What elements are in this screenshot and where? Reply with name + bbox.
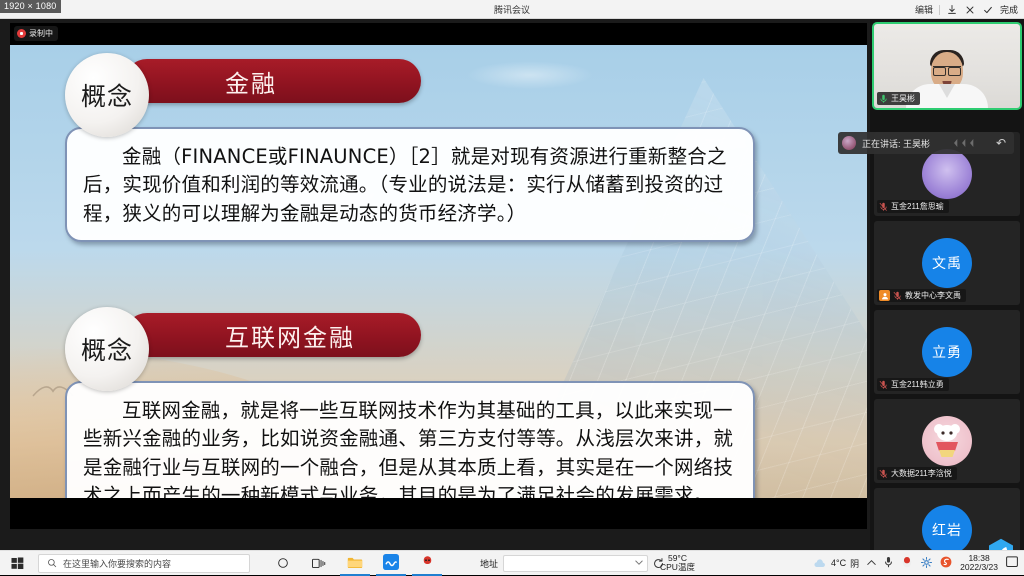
microphone-tray-icon[interactable] (884, 556, 893, 570)
cortana-icon[interactable] (268, 551, 298, 576)
microphone-muted-icon (879, 380, 888, 390)
microphone-muted-icon (879, 202, 888, 212)
done-button[interactable]: 完成 (1000, 3, 1018, 16)
presentation-slide: 金融 概念 金融（FINANCE或FINAUNCE）［2］就是对现有资源进行重新… (10, 45, 867, 498)
windows-logo-icon (11, 557, 24, 570)
concept-body-1: 金融（FINANCE或FINAUNCE）［2］就是对现有资源进行重新整合之后，实… (65, 127, 755, 242)
weather-desc: 阴 (850, 557, 859, 570)
participant-name: 互金211詹思瑜 (891, 201, 944, 212)
action-center-icon[interactable] (1006, 556, 1018, 570)
taskbar-apps (268, 551, 442, 576)
participant-name: 王昊彬 (891, 93, 915, 104)
back-arrow-icon[interactable]: ↶ (996, 136, 1006, 150)
divider (939, 5, 940, 15)
weather-widget[interactable]: 4°C 阴 (813, 557, 859, 570)
participant-name: 大数据211李浛悦 (891, 468, 952, 479)
chevron-down-icon[interactable] (635, 560, 643, 566)
participant-tile[interactable]: 王昊彬 (874, 24, 1020, 108)
recording-label: 录制中 (29, 28, 53, 39)
participant-name-tag: 王昊彬 (877, 92, 920, 105)
window-title: 腾讯会议 (0, 3, 1024, 16)
speaking-toast: 正在讲话: 王昊彬 ↶ (838, 132, 1014, 154)
capture-actions: 编辑 完成 (915, 0, 1018, 19)
capture-dimensions-badge: 1920 × 1080 (0, 0, 61, 13)
taskbar-clock[interactable]: 18:38 2022/3/23 (960, 554, 998, 573)
participant-tile[interactable]: 大数据211李浛悦 (874, 399, 1020, 483)
address-input[interactable] (503, 555, 648, 572)
participant-tile[interactable]: 文禹 教发中心李文禹 (874, 221, 1020, 305)
sogou-input-icon[interactable] (940, 556, 952, 570)
recording-indicator: 录制中 (14, 26, 58, 41)
taskbar-search-placeholder: 在这里输入你要搜索的内容 (63, 557, 171, 570)
avatar: 立勇 (922, 327, 972, 377)
address-toolbar: 地址 (480, 555, 664, 572)
participant-rail[interactable]: 王昊彬 互金211詹思瑜 文禹 教发中心李文禹 立勇 (870, 19, 1024, 550)
concept-title-2: 互联网金融 (125, 313, 421, 357)
participant-name-tag: 互金211詹思瑜 (877, 200, 949, 213)
start-button[interactable] (0, 551, 34, 576)
cpu-temp-label: CPU温度 (660, 563, 695, 572)
address-label: 地址 (480, 557, 498, 570)
show-hidden-icons-chevron[interactable] (867, 558, 876, 568)
system-tray: 4°C 阴 18:38 2022/3/23 (813, 554, 1018, 573)
concept-badge-2: 概念 (65, 307, 149, 391)
participant-name-tag: 互金211韩立勇 (877, 378, 949, 391)
cpu-temperature-widget: 59°C CPU温度 (660, 554, 695, 573)
participant-name: 互金211韩立勇 (891, 379, 944, 390)
collapse-dots-icon (954, 139, 976, 147)
cloud-icon (813, 558, 827, 569)
download-icon[interactable] (946, 4, 958, 16)
participant-name-tag: 大数据211李浛悦 (877, 467, 957, 480)
meeting-app-icon[interactable] (376, 551, 406, 576)
taskbar-search-input[interactable]: 在这里输入你要搜索的内容 (38, 554, 250, 573)
participant-name: 教发中心李文禹 (905, 290, 961, 301)
participant-tile[interactable]: 立勇 互金211韩立勇 (874, 310, 1020, 394)
avatar: 红岩 (922, 505, 972, 555)
speaking-text: 正在讲话: 王昊彬 (862, 137, 930, 150)
concept-body-2: 互联网金融，就是将一些互联网技术作为其基础的工具，以此来实现一些新兴金融的业务，… (65, 381, 755, 498)
edit-button[interactable]: 编辑 (915, 3, 933, 16)
task-view-icon[interactable] (304, 551, 334, 576)
file-explorer-icon[interactable] (340, 551, 370, 576)
clock-date: 2022/3/23 (960, 563, 998, 572)
search-icon (47, 558, 57, 568)
settings-tray-icon[interactable] (921, 557, 932, 570)
shared-screen-area[interactable]: 金融 概念 金融（FINANCE或FINAUNCE）［2］就是对现有资源进行重新… (10, 23, 867, 529)
microphone-muted-icon (893, 291, 902, 301)
host-badge-icon (879, 290, 890, 301)
participant-name-tag: 教发中心李文禹 (877, 289, 966, 302)
concept-title-1: 金融 (125, 59, 421, 103)
check-icon[interactable] (982, 4, 994, 16)
avatar (922, 149, 972, 199)
weather-temp: 4°C (831, 558, 846, 568)
record-icon (17, 29, 26, 38)
avatar: 文禹 (922, 238, 972, 288)
avatar (922, 416, 972, 466)
qq-tray-icon[interactable] (901, 556, 913, 570)
microphone-muted-icon (879, 469, 888, 479)
concept-badge-1: 概念 (65, 53, 149, 137)
close-icon[interactable] (964, 4, 976, 16)
desktop: 金融 概念 金融（FINANCE或FINAUNCE）［2］就是对现有资源进行重新… (0, 19, 1024, 550)
screenshot-capture-toolbar: 1920 × 1080 腾讯会议 编辑 完成 (0, 0, 1024, 19)
microphone-on-icon (879, 94, 888, 104)
cartoon-avatar-icon (922, 416, 972, 466)
speaker-avatar (842, 136, 856, 150)
qq-icon[interactable] (412, 551, 442, 576)
windows-taskbar[interactable]: 在这里输入你要搜索的内容 地址 59°C CPU温度 4°C 阴 18:38 2… (0, 550, 1024, 575)
